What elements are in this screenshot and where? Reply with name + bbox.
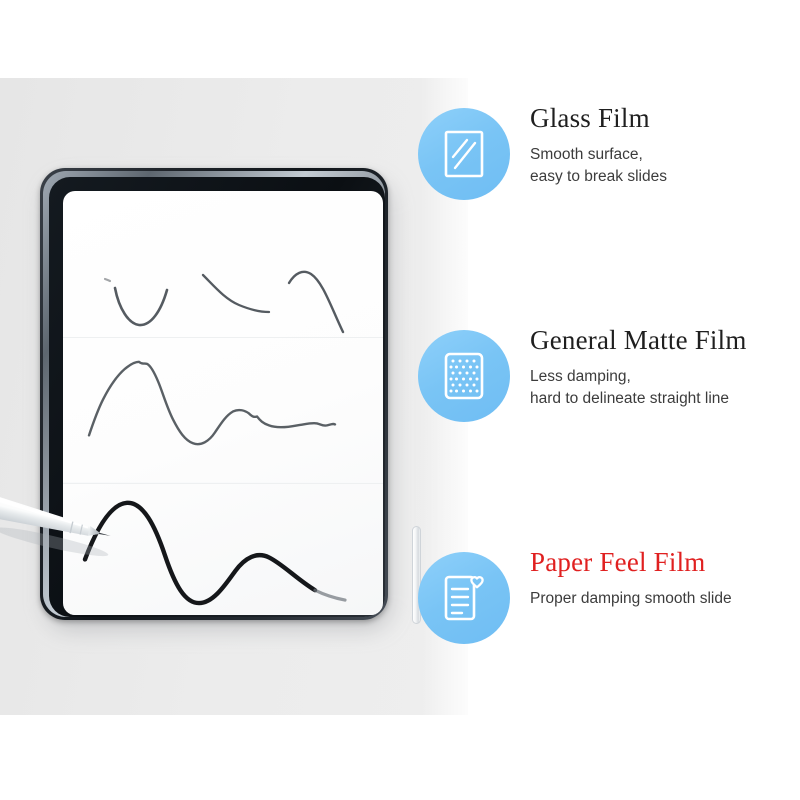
feature-desc-paper-film: Proper damping smooth slide: [530, 588, 800, 610]
glass-film-icon: [439, 127, 489, 181]
feature-desc-matte-film: Less damping, hard to delineate straight…: [530, 366, 800, 410]
glass-film-icon-badge: [418, 108, 510, 200]
feature-text-matte-film: General Matte Film Less damping, hard to…: [530, 326, 800, 410]
feature-item-glass-film: Glass Film Smooth surface, easy to break…: [418, 104, 800, 216]
feature-item-paper-film: Paper Feel Film Proper damping smooth sl…: [418, 548, 800, 660]
stroke-demo-glass: [63, 191, 383, 337]
feature-title-glass-film: Glass Film: [530, 104, 800, 134]
feature-desc-glass-film: Smooth surface, easy to break slides: [530, 144, 800, 188]
feature-text-paper-film: Paper Feel Film Proper damping smooth sl…: [530, 548, 800, 610]
feature-list: Glass Film Smooth surface, easy to break…: [418, 104, 800, 660]
stroke-demo-matte: [63, 337, 383, 483]
feature-title-matte-film: General Matte Film: [530, 326, 800, 356]
matte-film-icon-badge: [418, 330, 510, 422]
feature-title-paper-film: Paper Feel Film: [530, 548, 800, 578]
paper-film-icon-badge: [418, 552, 510, 644]
feature-item-matte-film: General Matte Film Less damping, hard to…: [418, 326, 800, 438]
matte-film-icon: [439, 349, 489, 403]
feature-text-glass-film: Glass Film Smooth surface, easy to break…: [530, 104, 800, 188]
product-feature-graphic: Glass Film Smooth surface, easy to break…: [0, 0, 800, 800]
paper-film-icon: [438, 571, 490, 625]
